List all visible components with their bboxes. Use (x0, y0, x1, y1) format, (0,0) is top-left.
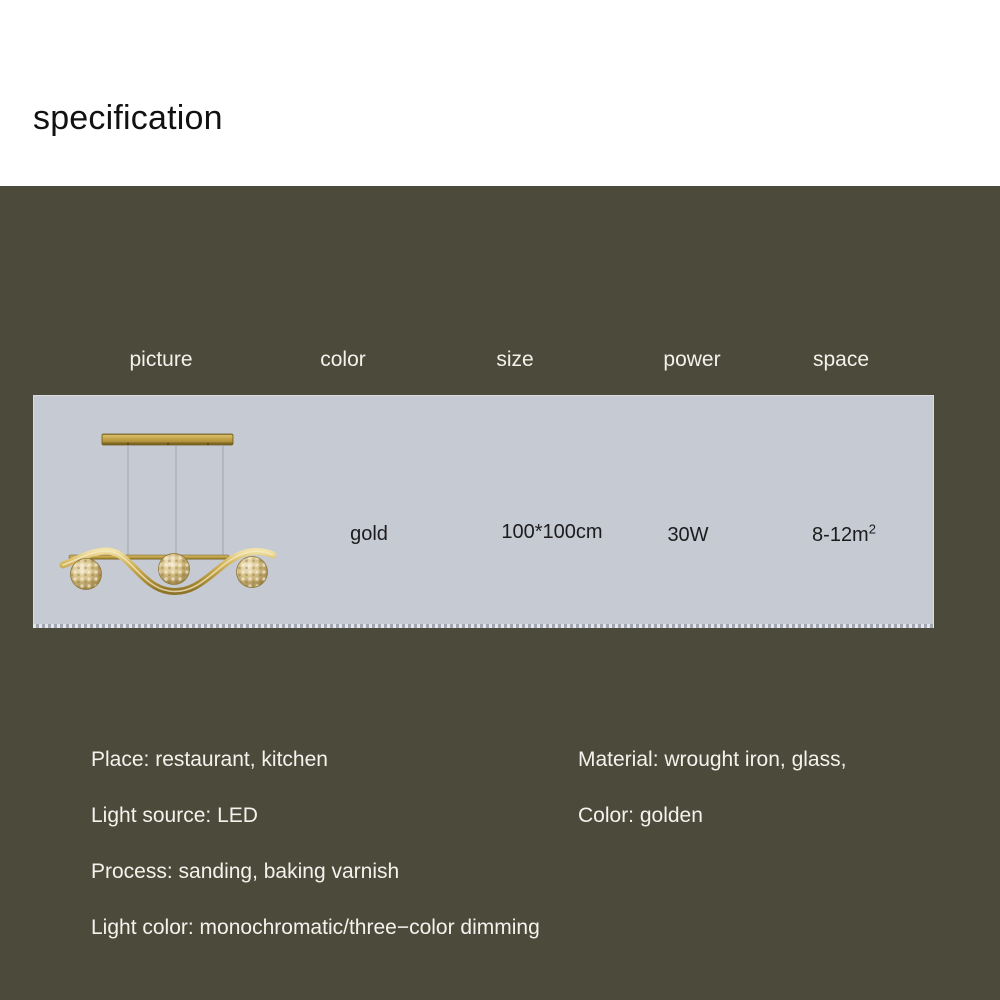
column-header-space: space (813, 346, 869, 374)
column-header-size: size (496, 346, 533, 374)
page-title: specification (33, 98, 223, 139)
header-band: specification (0, 0, 1000, 186)
description-right-column: Material: wrought iron, glass, Color: go… (578, 732, 968, 844)
cell-power-value: 30W (667, 522, 708, 548)
chandelier-svg (45, 409, 330, 614)
column-header-color: color (320, 346, 366, 374)
cell-space-number: 8-12m (812, 524, 869, 546)
cell-space-unit-exponent: 2 (869, 521, 876, 536)
panel-perforated-edge (33, 624, 934, 628)
description-place: Place: restaurant, kitchen (91, 732, 561, 788)
column-header-power: power (663, 346, 720, 374)
description-color: Color: golden (578, 788, 968, 844)
column-header-picture: picture (129, 346, 192, 374)
cell-space-value: 8-12m2 (812, 522, 876, 548)
specification-body: picture color size power space (0, 186, 1000, 1000)
ceiling-mount-bar (102, 434, 233, 445)
description-light-source: Light source: LED (91, 788, 561, 844)
crystal-sphere-center (159, 554, 190, 585)
description-left-column: Place: restaurant, kitchen Light source:… (91, 732, 561, 956)
suspension-wires (128, 445, 223, 561)
cell-size-value: 100*100cm (501, 519, 602, 545)
description-process: Process: sanding, baking varnish (91, 844, 561, 900)
crystal-sphere-left (71, 559, 102, 590)
description-material: Material: wrought iron, glass, (578, 732, 968, 788)
spec-table-header-row: picture color size power space (0, 346, 1000, 376)
product-image-chandelier (45, 409, 330, 614)
description-light-color: Light color: monochromatic/three−color d… (91, 900, 561, 956)
spec-table-row: gold 100*100cm 30W 8-12m2 (33, 395, 934, 628)
crystal-sphere-right (237, 557, 268, 588)
cell-color-value: gold (350, 521, 388, 547)
